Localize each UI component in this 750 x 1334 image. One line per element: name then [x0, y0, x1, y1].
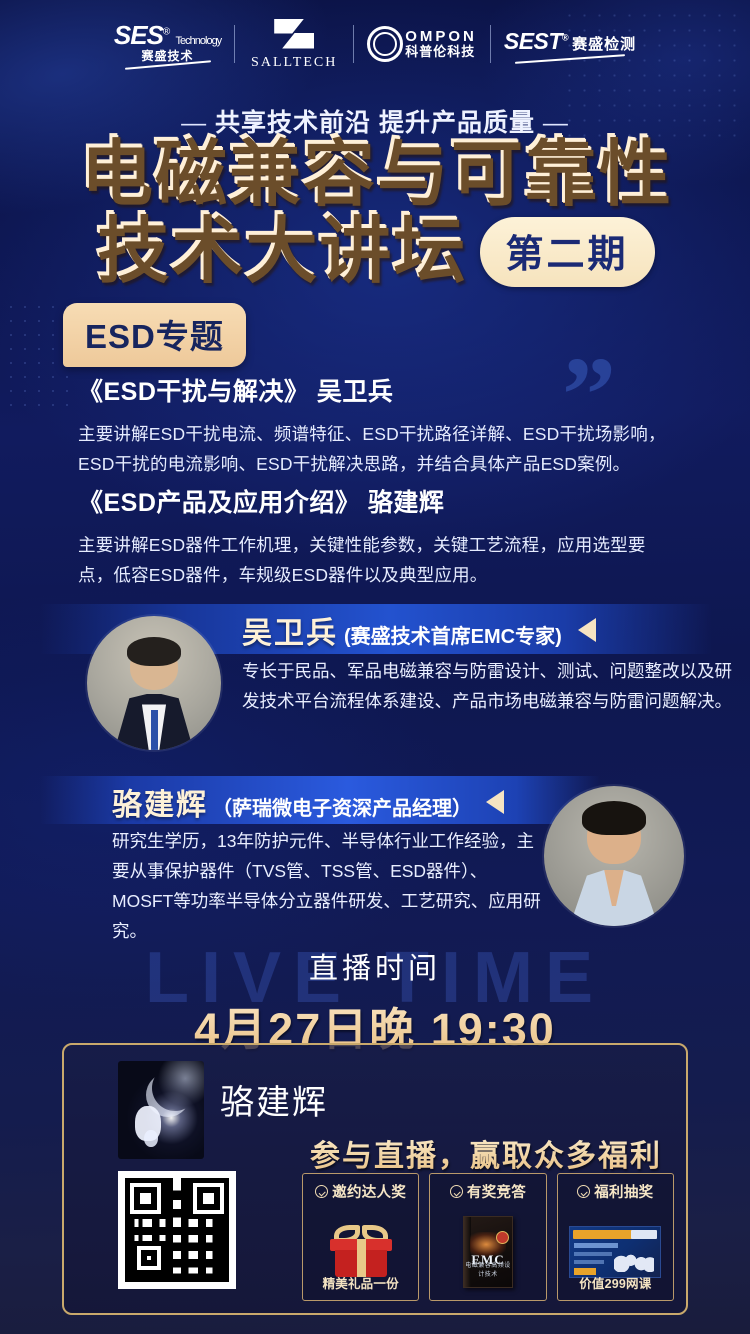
course-banner-right — [631, 1230, 657, 1239]
logo-sest-sup: ® — [562, 32, 568, 42]
logo-ses-subtitle: Technology — [176, 35, 222, 47]
logo-ses-sup: ® — [163, 26, 169, 37]
course-line — [574, 1260, 604, 1264]
online-course-card-image — [569, 1226, 661, 1278]
prize-card: 有奖竞答 EMC 电磁兼容高频设计技术 — [429, 1173, 546, 1301]
prize-card: 福利抽奖 价值299网课 — [557, 1173, 674, 1301]
hero-title-line1: 电磁兼容与可靠性 — [0, 135, 750, 209]
gift-ribbon — [357, 1239, 366, 1277]
salltech-mark-icon — [272, 18, 316, 52]
speaker-name: 吴卫兵 — [242, 608, 338, 652]
live-time-block: LIVE TIME 直播时间 4月27日晚 19:30 — [0, 945, 750, 1058]
logo-ses-en: SES — [114, 20, 163, 50]
check-circle-icon — [315, 1185, 328, 1198]
speaker-card-1: 吴卫兵 (赛盛技术首席EMC专家) 专长于民品、军品电磁兼容与防雷设计、测试、问… — [40, 598, 712, 766]
logo-sest-en: SEST — [504, 28, 562, 54]
prize-card: 邀约达人奖 精美礼品一份 — [302, 1173, 419, 1301]
logo-compon: OMPON 科普伦科技 — [354, 26, 490, 62]
speaker-name: 骆建辉 — [112, 780, 208, 824]
compon-ring-icon — [367, 26, 403, 62]
speaker-bio: 研究生学历，13年防护元件、半导体行业工作经验，主要从事保护器件（TVS管、TS… — [112, 826, 542, 946]
check-circle-icon — [450, 1185, 463, 1198]
prize-title: 邀约达人奖 — [332, 1181, 406, 1202]
live-label: 直播时间 — [0, 945, 750, 987]
qr-code[interactable] — [118, 1171, 236, 1289]
speaker-bio: 专长于民品、军品电磁兼容与防雷设计、测试、问题整改以及研发技术平台流程体系建设、… — [242, 656, 734, 716]
check-circle-icon — [577, 1185, 590, 1198]
triangle-left-icon — [578, 618, 596, 642]
course-line — [574, 1243, 618, 1248]
course-banner — [573, 1230, 633, 1239]
portrait-hair — [582, 801, 646, 835]
emc-book-image: EMC 电磁兼容高频设计技术 — [463, 1216, 513, 1288]
logo-salltech: SALLTECH — [235, 18, 353, 71]
speaker-portrait-luo — [544, 786, 684, 926]
speaker-card-2: 骆建辉 （萨瑞微电子资深产品经理） 研究生学历，13年防护元件、半导体行业工作经… — [40, 772, 712, 947]
promo-slogan: 参与直播，赢取众多福利 — [310, 1131, 662, 1175]
bottom-panel: 骆建辉 参与直播，赢取众多福利 邀约达人奖 — [62, 1043, 688, 1315]
bottom-contact-name: 骆建辉 — [220, 1075, 328, 1124]
portrait-tie — [151, 710, 158, 750]
book-subtitle: 电磁兼容高频设计技术 — [464, 1260, 512, 1278]
logo-sest-cn: 赛盛检测 — [572, 33, 636, 54]
logo-salltech-en: SALLTECH — [251, 55, 337, 71]
hero-title-line2: 技术大讲坛 — [95, 212, 465, 286]
prize-caption: 价值299网课 — [558, 1273, 673, 1292]
prize-caption: 精美礼品一份 — [303, 1273, 418, 1292]
speaker-name-row: 骆建辉 （萨瑞微电子资深产品经理） — [112, 780, 504, 824]
topic-item: 《ESD干扰与解决》 吴卫兵 主要讲解ESD干扰电流、频谱特征、ESD干扰路径详… — [78, 372, 678, 479]
astronaut-helmet-icon — [144, 1130, 158, 1148]
topic-body: 主要讲解ESD器件工作机理，关键性能参数，关键工艺流程，应用选型要点，低容ESD… — [78, 530, 678, 590]
logo-sest: SEST® 赛盛检测 — [491, 28, 649, 60]
topic-title: 《ESD干扰与解决》 吴卫兵 — [78, 372, 678, 408]
section-tag-esd: ESD专题 — [63, 303, 246, 367]
topic-item: 《ESD产品及应用介绍》 骆建辉 主要讲解ESD器件工作机理，关键性能参数，关键… — [78, 483, 678, 590]
gift-box-icon — [330, 1226, 392, 1278]
course-line — [574, 1252, 612, 1256]
prize-art: EMC 电磁兼容高频设计技术 — [430, 1202, 545, 1300]
prize-title: 福利抽奖 — [594, 1181, 653, 1202]
edition-badge: 第二期 — [480, 217, 655, 287]
prize-title: 有奖竞答 — [467, 1181, 526, 1202]
logo-compon-cn: 科普伦科技 — [405, 45, 477, 59]
moon-icon — [152, 1065, 198, 1111]
speaker-role: （萨瑞微电子资深产品经理） — [212, 792, 472, 821]
logo-ses-cn: 赛盛技术 — [142, 50, 194, 62]
poster-root: SES® Technology 赛盛技术 SALLTECH OMPON 科普伦科… — [0, 0, 750, 1334]
speaker-portrait-wu — [87, 616, 221, 750]
course-people-icon — [614, 1246, 654, 1272]
speaker-role: (赛盛技术首席EMC专家) — [344, 620, 562, 649]
space-avatar-image — [118, 1061, 204, 1159]
topic-body: 主要讲解ESD干扰电流、频谱特征、ESD干扰路径详解、ESD干扰场影响，ESD干… — [78, 419, 678, 479]
hero-title-block: 电磁兼容与可靠性 技术大讲坛 第二期 — [0, 135, 750, 287]
triangle-left-icon — [486, 790, 504, 814]
partner-logo-bar: SES® Technology 赛盛技术 SALLTECH OMPON 科普伦科… — [0, 0, 750, 88]
book-seal-icon — [496, 1231, 509, 1244]
prize-list: 邀约达人奖 精美礼品一份 有奖竞答 — [302, 1173, 674, 1301]
qr-code-pattern — [125, 1178, 229, 1282]
portrait-hair — [127, 637, 181, 665]
logo-compon-en: OMPON — [405, 29, 477, 45]
speaker-name-row: 吴卫兵 (赛盛技术首席EMC专家) — [242, 608, 596, 652]
logo-sest-underline — [515, 54, 625, 64]
qr-finder-bottom-left — [132, 1241, 166, 1275]
logo-ses: SES® Technology 赛盛技术 — [101, 22, 234, 66]
topic-title: 《ESD产品及应用介绍》 骆建辉 — [78, 483, 678, 519]
